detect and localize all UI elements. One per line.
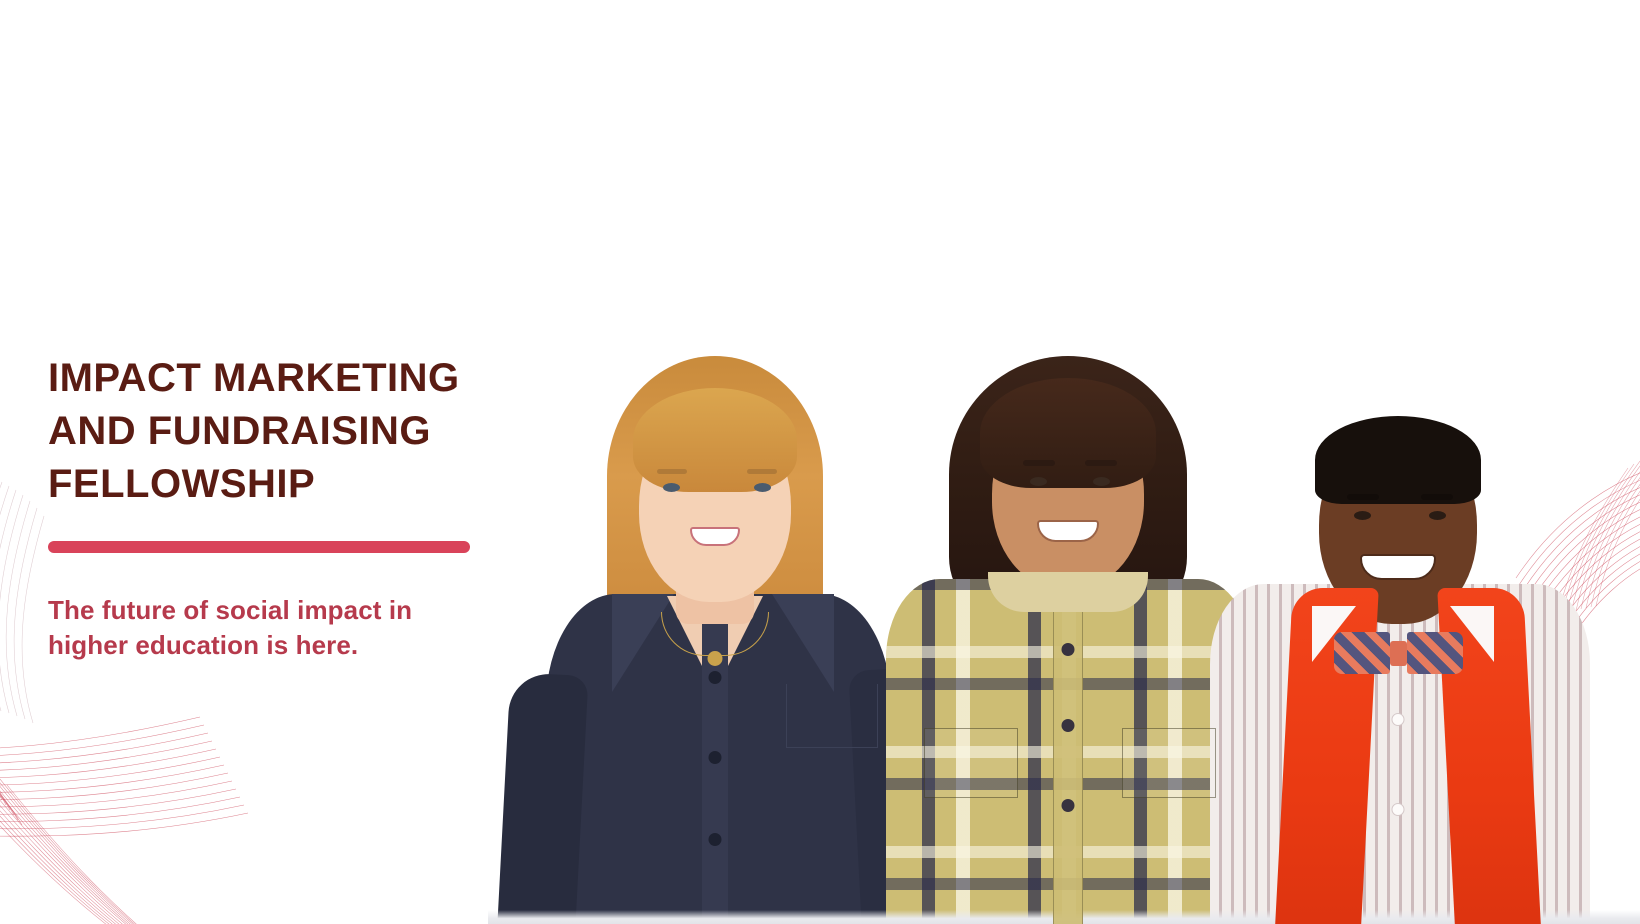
person-2-pocket-left <box>924 728 1018 798</box>
person-2-collar <box>988 572 1148 612</box>
person-3-button <box>1392 803 1405 816</box>
person-3-hair <box>1315 416 1481 504</box>
person-3-bowtie-orange-stole <box>1188 314 1608 924</box>
person-1-button <box>709 751 722 764</box>
person-3-button <box>1392 713 1405 726</box>
person-3-bowtie <box>1332 632 1464 674</box>
person-1-collar-left <box>612 594 674 692</box>
person-3-eye-right <box>1429 511 1446 520</box>
person-1-button <box>709 671 722 684</box>
person-1-pocket <box>786 684 878 748</box>
person-2-button <box>1062 719 1075 732</box>
person-2-button <box>1062 799 1075 812</box>
person-2-smile <box>1037 520 1099 542</box>
person-2-eyebrow-left <box>1023 460 1055 466</box>
person-3-eyebrow-right <box>1421 494 1453 500</box>
hero-text-block: IMPACT MARKETING AND FUNDRAISING FELLOWS… <box>48 352 518 664</box>
person-1-placket <box>702 624 728 924</box>
person-1-eye-right <box>754 483 771 492</box>
person-2-eyebrow-right <box>1085 460 1117 466</box>
page-subtitle: The future of social impact in higher ed… <box>48 593 518 665</box>
person-1-collar-right <box>772 594 834 692</box>
person-3-bowtie-wing-right <box>1407 632 1463 674</box>
person-1-button <box>709 833 722 846</box>
page-title: IMPACT MARKETING AND FUNDRAISING FELLOWS… <box>48 352 518 512</box>
person-2-button <box>1062 643 1075 656</box>
person-2-eye-right <box>1093 477 1110 486</box>
headline-line-1: IMPACT MARKETING <box>48 352 518 405</box>
person-1-eyebrow-right <box>747 469 777 474</box>
person-2-pocket-right <box>1122 728 1216 798</box>
person-2-eye-left <box>1030 477 1047 486</box>
person-1-necklace-pendant <box>708 651 723 666</box>
person-1-blonde-woman-navy-blouse <box>500 324 930 924</box>
accent-divider-bar <box>48 541 470 553</box>
students-group-photo <box>488 0 1640 924</box>
hero-banner: IMPACT MARKETING AND FUNDRAISING FELLOWS… <box>0 0 1640 924</box>
subtitle-line-1: The future of social impact in <box>48 593 518 629</box>
person-1-smile <box>690 527 740 546</box>
person-3-eyebrow-left <box>1347 494 1379 500</box>
subtitle-line-2: higher education is here. <box>48 628 518 664</box>
person-1-hair-top <box>633 388 797 492</box>
headline-line-3: FELLOWSHIP <box>48 458 518 511</box>
person-1-eye-left <box>663 483 680 492</box>
person-3-bowtie-knot <box>1390 641 1407 666</box>
person-3-smile <box>1360 554 1436 580</box>
person-1-eyebrow-left <box>657 469 687 474</box>
person-3-bowtie-wing-left <box>1334 632 1390 674</box>
person-2-hair-top <box>980 378 1156 488</box>
person-3-eye-left <box>1354 511 1371 520</box>
headline-line-2: AND FUNDRAISING <box>48 405 518 458</box>
